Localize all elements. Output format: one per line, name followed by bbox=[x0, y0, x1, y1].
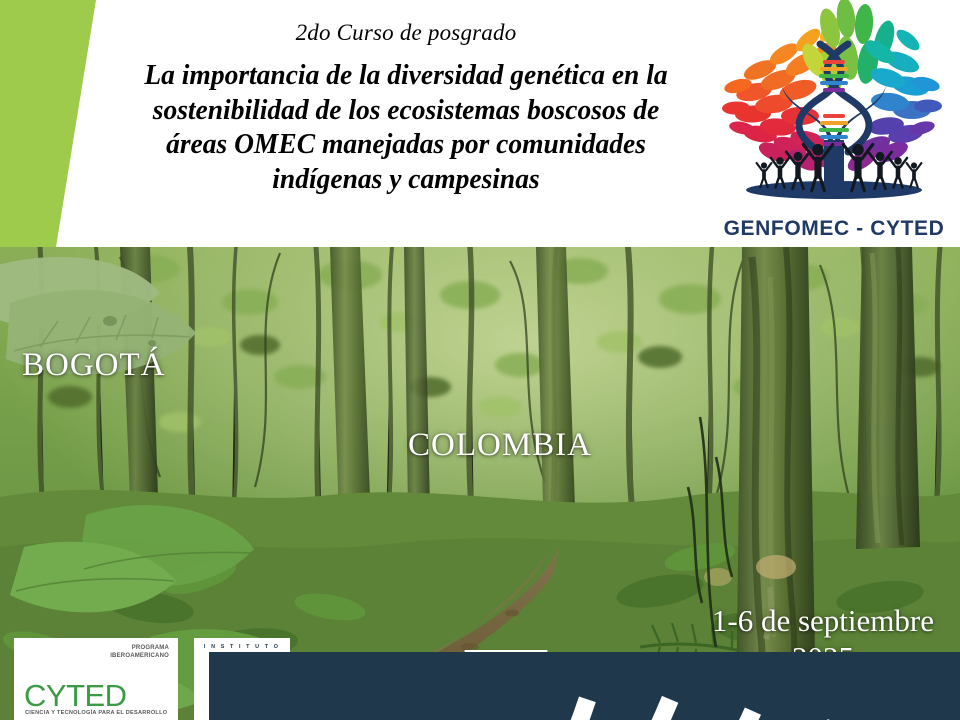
green-accent-wedge bbox=[0, 0, 110, 247]
humboldt-logo: I N S T I T U T O bbox=[194, 638, 290, 720]
course-kicker: 2do Curso de posgrado bbox=[296, 20, 517, 45]
humboldt-leaf-icon bbox=[202, 652, 960, 720]
title-line-4: indígenas y campesinas bbox=[107, 163, 705, 198]
genfomec-cyted-logo: GENFOMEC - CYTED bbox=[712, 0, 956, 247]
humboldt-institute-label: I N S T I T U T O bbox=[202, 644, 282, 650]
poster-header: 2do Curso de posgrado La importancia de … bbox=[0, 0, 960, 247]
forest-photo: BOGOTÁ COLOMBIA 1-6 de septiembre 2025 P… bbox=[0, 247, 960, 720]
event-date-line-1: 1-6 de septiembre bbox=[712, 602, 934, 639]
cyted-tagline: CIENCIA Y TECNOLOGÍA PARA EL DESARROLLO bbox=[25, 710, 167, 716]
event-poster: 2do Curso de posgrado La importancia de … bbox=[0, 0, 960, 720]
cyted-logo: PROGRAMA IBEROAMERICANO CYTED CIENCIA Y … bbox=[14, 638, 178, 720]
cyted-wordmark: CYTED bbox=[24, 680, 127, 711]
title-line-2: sostenibilidad de los ecosistemas boscos… bbox=[107, 94, 705, 129]
title-line-1: La importancia de la diversidad genética… bbox=[107, 59, 705, 94]
page-title: La importancia de la diversidad genética… bbox=[107, 59, 705, 197]
dna-tree-icon bbox=[712, 0, 956, 214]
header-text-block: 2do Curso de posgrado La importancia de … bbox=[96, 0, 716, 247]
city-label: BOGOTÁ bbox=[22, 347, 166, 384]
genfomec-wordmark: GENFOMEC - CYTED bbox=[712, 217, 956, 241]
country-label: COLOMBIA bbox=[408, 427, 592, 464]
title-line-3: áreas OMEC manejadas por comunidades bbox=[107, 128, 705, 163]
